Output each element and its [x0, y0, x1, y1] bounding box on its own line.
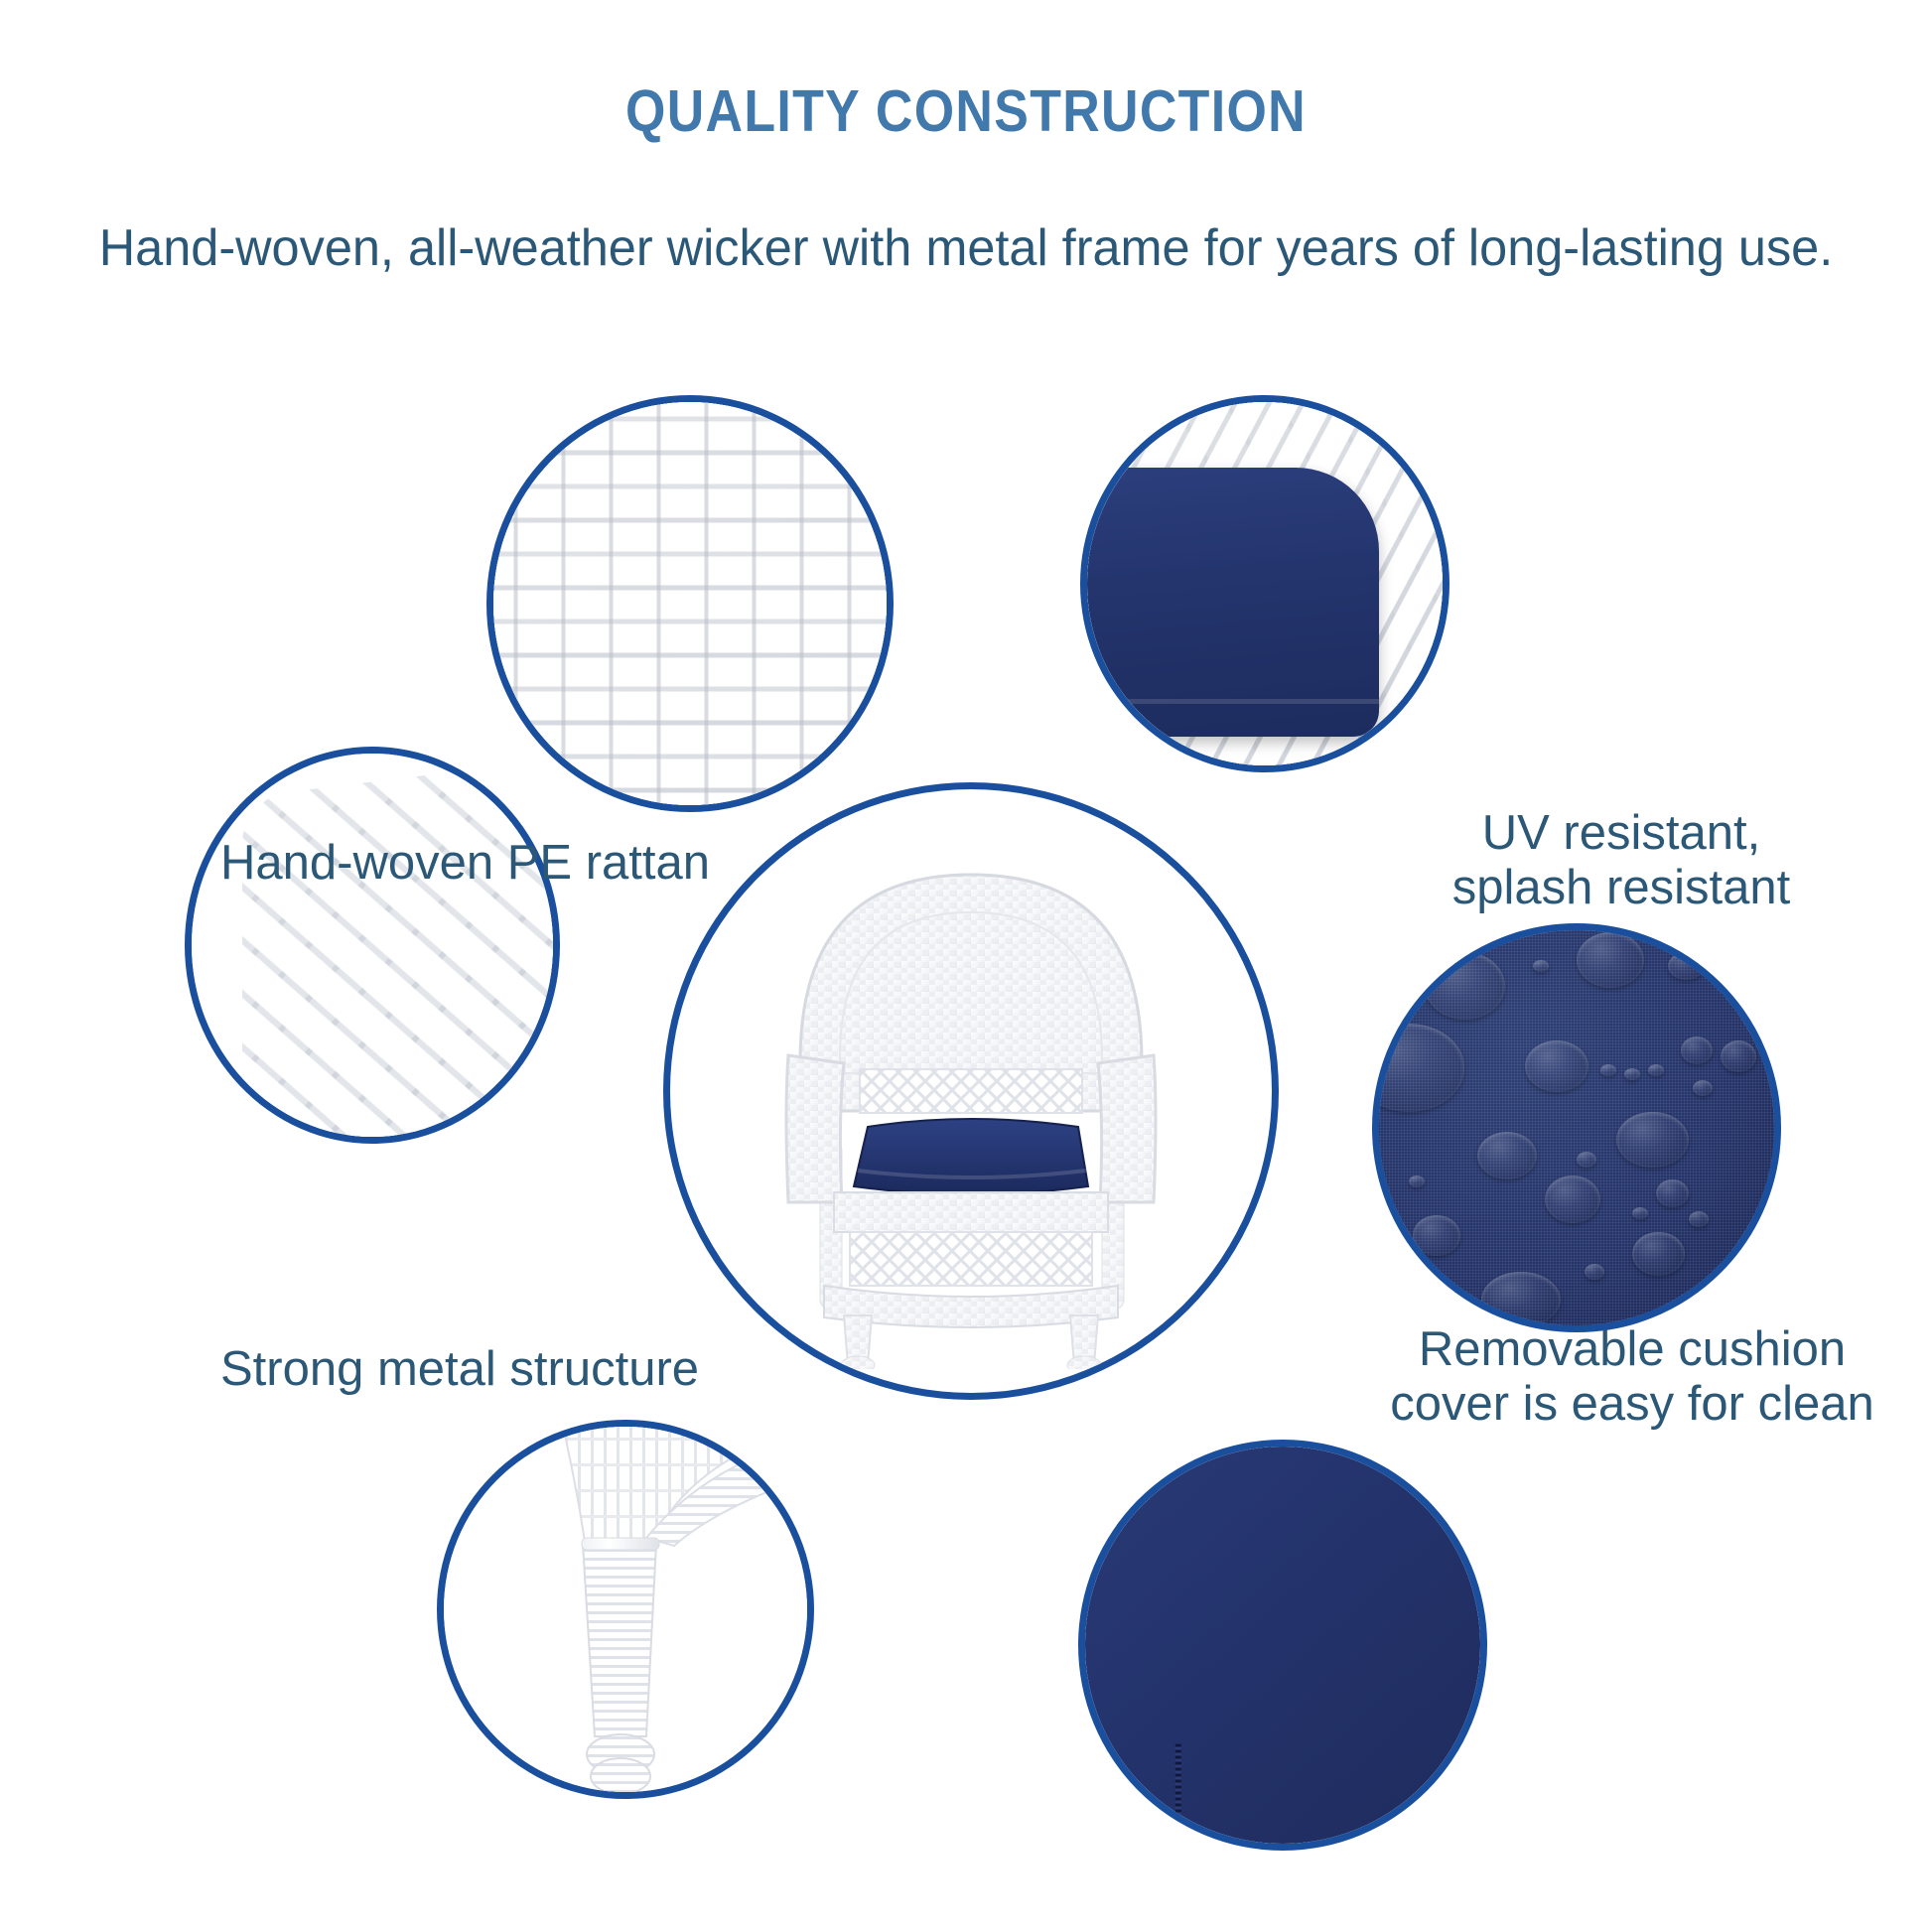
caption-uv-splash-resistant: UV resistant, splash resistant: [1408, 806, 1835, 915]
caption-hand-woven-pe-rattan: Hand-woven PE rattan: [220, 836, 710, 891]
water-beading-on-navy-fabric-image: [1377, 928, 1776, 1327]
page-title: QUALITY CONSTRUCTION: [116, 77, 1816, 145]
cushion-seam-line: [1080, 699, 1379, 704]
white-basket-weave-wicker-closeup-image: [491, 400, 889, 807]
detail-circle-cushion-closeup: [1080, 395, 1449, 772]
white-wicker-corner-frame-image: [242, 756, 560, 1144]
navy-seat-cushion-shape: [1080, 468, 1379, 737]
infographic-canvas: QUALITY CONSTRUCTION Hand-woven, all-wea…: [0, 0, 1932, 1932]
white-wicker-armchair-with-navy-cushion-image: [693, 813, 1249, 1369]
detail-circle-chair-hero: [663, 782, 1279, 1400]
detail-circle-droplets-closeup: [1372, 923, 1781, 1332]
detail-circle-zipper-closeup: [1078, 1440, 1487, 1851]
page-subtitle: Hand-woven, all-weather wicker with meta…: [29, 218, 1903, 278]
detail-circle-corner-closeup: [185, 747, 560, 1144]
white-wicker-chair-leg-image: [444, 1427, 814, 1799]
caption-removable-cushion-cover: Removable cushion cover is easy for clea…: [1342, 1322, 1922, 1432]
detail-circle-leg-closeup: [437, 1420, 814, 1799]
navy-cushion-cover-zipper-image: [1078, 1440, 1487, 1851]
caption-strong-metal-structure: Strong metal structure: [220, 1342, 699, 1397]
detail-circle-weave-closeup: [486, 395, 894, 812]
zipper-teeth: [1174, 1743, 1180, 1851]
